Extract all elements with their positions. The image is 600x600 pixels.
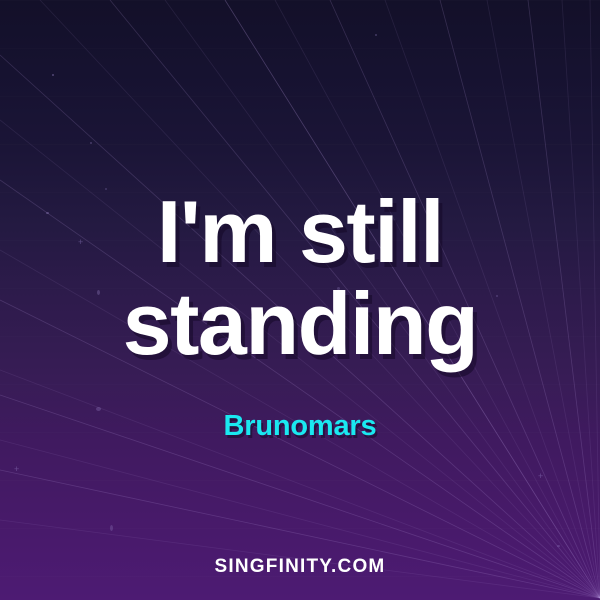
card-content: I'm still standing Brunomars SINGFINITY.… [0,0,600,600]
lyric-quote-card: + + + I'm still standing Brunomars SINGF… [0,0,600,600]
artist-name: Brunomars [0,409,600,443]
site-watermark: SINGFINITY.COM [0,555,600,579]
song-title: I'm still standing [0,186,600,370]
